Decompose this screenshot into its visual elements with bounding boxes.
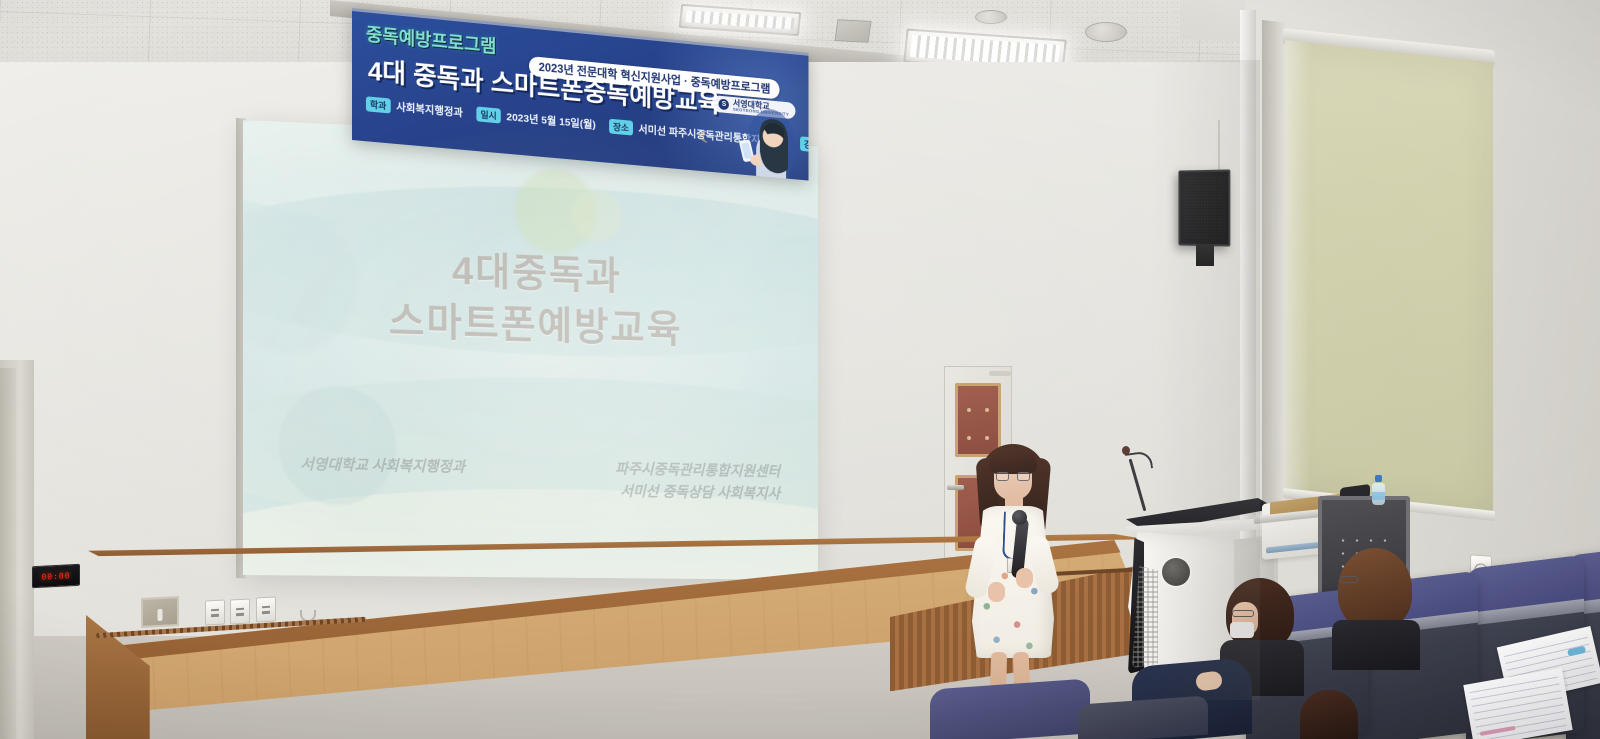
- blind-highlight: [1285, 40, 1311, 495]
- ceiling-dome-icon: [1085, 22, 1127, 42]
- slide-footer-right: 파주시중독관리통합지원센터 서미선 중독상담 사회복지사: [615, 459, 780, 505]
- projected-slide: 4대중독과 스마트폰예방교육 서영대학교 사회복지행정과 파주시중독관리통합지원…: [243, 120, 818, 580]
- slide-footer-right-line-1: 파주시중독관리통합지원센터: [615, 459, 780, 484]
- ceiling-vent-icon: [834, 19, 871, 43]
- bottle-label: [1372, 492, 1385, 500]
- glasses-icon: [996, 472, 1030, 481]
- lecture-hall-photo: 4대중독과 스마트폰예방교육 서영대학교 사회복지행정과 파주시중독관리통합지원…: [0, 0, 1600, 739]
- attendee-head: [1338, 548, 1412, 630]
- roller-blind[interactable]: [1285, 40, 1493, 515]
- glasses-icon: [1232, 610, 1254, 617]
- led-clock-value: 00:00: [41, 571, 70, 582]
- slide-footer-right-line-2: 서미선 중독상담 사회복지사: [615, 481, 780, 505]
- floor-box[interactable]: [141, 596, 179, 628]
- banner-meta-value: 2023년 5월 15일(월): [506, 109, 595, 132]
- led-clock-display: 00:00: [32, 564, 80, 589]
- banner-meta-tag: 학과: [366, 96, 390, 113]
- presenter-hand: [988, 582, 1005, 602]
- banner-meta-tag: 장소: [609, 119, 633, 136]
- water-bottle-icon[interactable]: [1372, 475, 1385, 505]
- presenter-hair: [989, 448, 1037, 474]
- banner-meta-value: 사회복지행정과: [396, 99, 463, 120]
- crescent-moon-icon: ☾: [699, 127, 713, 148]
- speaker-bracket: [1196, 244, 1214, 266]
- projection-screen: 4대중독과 스마트폰예방교육 서영대학교 사회복지행정과 파주시중독관리통합지원…: [243, 120, 818, 580]
- presenter-hand: [1016, 568, 1033, 588]
- paper-text-lines: [1469, 674, 1567, 739]
- microphone-head: [1012, 510, 1027, 525]
- illustration-woman-phone-icon: [722, 103, 803, 181]
- slide-title: 4대중독과 스마트폰예방교육: [243, 238, 818, 360]
- wall-speaker-icon: [1178, 169, 1230, 246]
- floor-box-switch[interactable]: [158, 609, 163, 621]
- bottle-cap: [1375, 475, 1382, 482]
- attendee: [1332, 548, 1420, 658]
- fluorescent-tubes: [685, 10, 794, 29]
- attendee-head: [1300, 690, 1358, 739]
- window-reveal: [1262, 20, 1286, 509]
- slide-footer-left: 서영대학교 사회복지행정과: [300, 453, 465, 500]
- left-door-frame[interactable]: [0, 368, 16, 739]
- glasses-icon: [1340, 576, 1358, 583]
- face-mask-icon: [1230, 622, 1254, 638]
- attendee-body: [1332, 620, 1420, 670]
- auditorium-seat[interactable]: [930, 678, 1090, 739]
- sprinkler-icon: [975, 10, 1007, 24]
- podium-speaker-icon: [1162, 558, 1190, 586]
- speaker-grille: [1184, 176, 1225, 241]
- door-closer: [989, 371, 1011, 376]
- banner-meta-tag: 일시: [477, 106, 501, 123]
